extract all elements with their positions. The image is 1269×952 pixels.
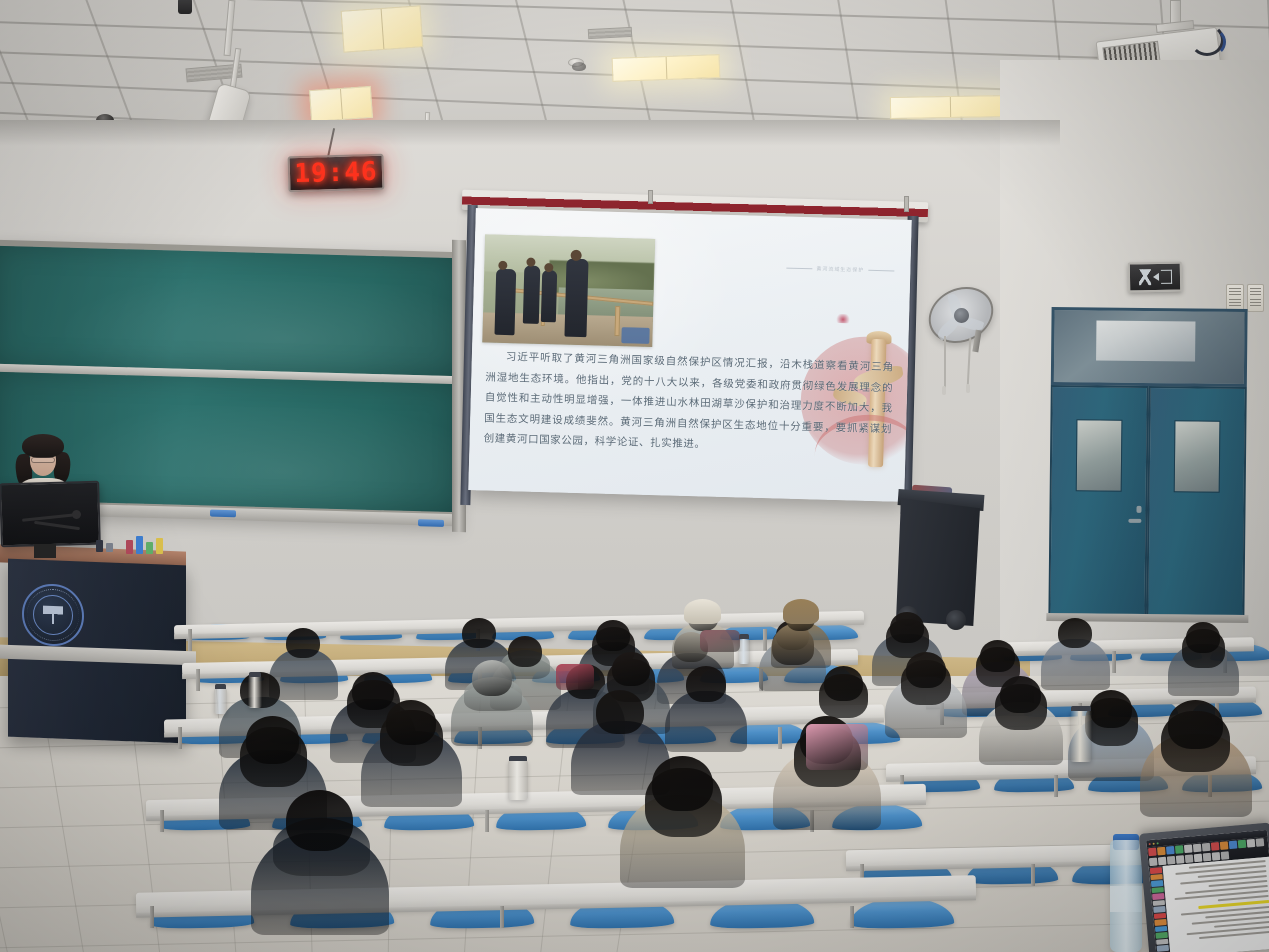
toolbar-icon[interactable] <box>1149 857 1158 866</box>
bottle-cap <box>215 684 226 689</box>
desk-leg <box>485 810 489 832</box>
toolbar-icon[interactable] <box>1185 854 1194 863</box>
microphone-head-icon[interactable] <box>72 510 81 519</box>
desk-item <box>136 536 143 554</box>
seal-emblem <box>43 606 63 625</box>
sidebar-icon[interactable] <box>1152 893 1164 900</box>
blackboard-panel-upper <box>0 246 460 377</box>
sidebar-icon[interactable] <box>1157 945 1169 952</box>
light-switch-left[interactable] <box>1226 284 1244 312</box>
wall-mounted-fan <box>928 288 994 342</box>
student-head <box>1058 618 1092 648</box>
student-hat <box>684 599 721 624</box>
thermos-bottle[interactable] <box>248 676 262 708</box>
projection-screen: 黄河流域生态保护 习近平听取了黄河三角洲国家级自然保护区情况汇报，沿木栈道察看黄… <box>468 208 911 502</box>
ceiling-dome-camera <box>572 62 586 71</box>
sidebar-icon[interactable] <box>1153 899 1165 906</box>
desk-leg <box>1031 864 1035 886</box>
thermos-bottle[interactable] <box>214 688 227 714</box>
exit-door-icon <box>1160 270 1171 284</box>
student-head <box>596 620 630 651</box>
ceiling-light-panel <box>309 86 373 122</box>
sidebar-icon[interactable] <box>1150 867 1162 874</box>
track-light <box>178 0 192 14</box>
classroom-scene: 19:46 <box>0 0 1269 952</box>
photo-person <box>541 270 557 322</box>
desk-item <box>146 542 153 554</box>
document-page[interactable] <box>1163 857 1269 952</box>
sidebar-icon[interactable] <box>1153 906 1165 913</box>
toolbar-icon[interactable] <box>1194 853 1203 862</box>
thermos-bottle[interactable] <box>508 760 528 800</box>
light-switch-right[interactable] <box>1247 284 1265 312</box>
toolbar-icon[interactable] <box>1211 842 1220 851</box>
door-lock[interactable] <box>1136 505 1141 512</box>
desk-leg <box>850 906 854 928</box>
fan-pull-cord-handle[interactable] <box>966 384 970 393</box>
slide-photo <box>482 234 655 347</box>
fan-hub <box>954 308 969 323</box>
monitor-stand <box>34 544 56 558</box>
door-leaf-right[interactable] <box>1146 386 1246 617</box>
desk-supplies <box>96 540 113 552</box>
student-head <box>386 700 436 745</box>
desk-item <box>106 543 113 552</box>
toolbar-icon[interactable] <box>1166 846 1175 855</box>
photo-person <box>564 259 588 338</box>
desk-leg <box>196 669 200 691</box>
deco-line-right <box>868 270 894 272</box>
student-head <box>596 690 644 734</box>
desk-item <box>96 540 103 552</box>
toolbar-icon[interactable] <box>1184 844 1193 853</box>
student-head <box>1168 700 1223 749</box>
toolbar-icon[interactable] <box>1148 848 1157 857</box>
sidebar-icon[interactable] <box>1154 912 1166 919</box>
student-head <box>612 652 650 686</box>
toolbar-icon[interactable] <box>1158 856 1167 865</box>
desk-item <box>126 540 133 554</box>
instructor-glasses <box>31 457 55 463</box>
sidebar-icon[interactable] <box>1155 932 1167 939</box>
desk-leg <box>150 906 154 928</box>
student-head <box>652 756 713 811</box>
backpack <box>700 630 740 652</box>
instructor-hair <box>22 434 64 458</box>
desk-leg <box>763 629 767 651</box>
desk-leg <box>160 810 164 832</box>
fan-pull-cord-handle[interactable] <box>942 386 946 395</box>
toolbar-icon[interactable] <box>1175 845 1184 854</box>
backpack <box>556 664 594 690</box>
door-vision-panel <box>1076 419 1122 492</box>
desk-supplies <box>126 536 163 554</box>
student-head <box>286 628 320 658</box>
student-head <box>1186 622 1220 653</box>
running-person-icon <box>1138 269 1150 285</box>
projector-cable <box>1198 28 1226 56</box>
door-handle[interactable] <box>1128 519 1141 523</box>
student-head <box>1000 676 1041 713</box>
student-head <box>352 672 394 710</box>
bottle-cap <box>739 634 749 639</box>
student-head <box>980 640 1015 672</box>
student-head <box>890 612 924 643</box>
sidebar-icon[interactable] <box>1156 938 1168 945</box>
backpack <box>806 724 868 770</box>
photo-person <box>523 265 541 323</box>
sidebar-icon[interactable] <box>1154 919 1166 926</box>
desk-leg <box>500 906 504 928</box>
bottle-cap <box>249 672 261 677</box>
desk-leg <box>778 727 782 749</box>
bottle-cap <box>1071 706 1091 711</box>
water-bottle-label <box>1110 886 1142 912</box>
sidebar-icon[interactable] <box>1150 874 1162 881</box>
toolbar-icon[interactable] <box>1229 840 1238 849</box>
slide-deco-heading: 黄河流域生态保护 <box>786 265 894 275</box>
bird-icon <box>835 314 851 323</box>
ceiling-light-panel <box>341 5 424 52</box>
classroom-double-door[interactable] <box>1046 307 1249 617</box>
desk-leg <box>1112 651 1116 673</box>
slide-deco-label: 黄河流域生态保护 <box>816 265 864 273</box>
toolbar-icon[interactable] <box>1238 840 1247 849</box>
toolbar-icon[interactable] <box>1193 844 1202 853</box>
presentation-slide: 黄河流域生态保护 习近平听取了黄河三角洲国家级自然保护区情况汇报，沿木栈道察看黄… <box>468 208 911 502</box>
student-laptop[interactable] <box>1139 822 1269 952</box>
toolbar-icon[interactable] <box>1157 847 1166 856</box>
toolbar-icon[interactable] <box>1247 839 1256 848</box>
student-head <box>508 636 542 667</box>
blackboard-eraser <box>418 519 444 527</box>
student-head <box>686 666 726 702</box>
student-head <box>1090 690 1132 728</box>
window-dot <box>1153 842 1155 844</box>
sidebar-icon[interactable] <box>1151 887 1163 894</box>
screen-bracket <box>904 196 909 212</box>
photo-watermark <box>621 327 649 344</box>
toolbar-icon[interactable] <box>1203 852 1212 861</box>
student-hat <box>783 599 819 624</box>
sidebar-icon[interactable] <box>1151 880 1163 887</box>
bottle-cap <box>509 756 527 761</box>
cart-wheel <box>946 610 966 630</box>
toolbar-icon[interactable] <box>1221 851 1230 860</box>
student-head <box>472 660 512 696</box>
toolbar-icon[interactable] <box>1220 841 1229 850</box>
student-head <box>286 790 353 851</box>
wall-light-switch-panel[interactable] <box>1226 284 1264 312</box>
student-head <box>824 666 863 701</box>
thermos-bottle[interactable] <box>1070 710 1092 762</box>
slide-body-text: 习近平听取了黄河三角洲国家级自然保护区情况汇报，沿木栈道察看黄河三角洲湿地生态环… <box>483 346 894 459</box>
deco-line-left <box>786 268 812 270</box>
toolbar-icon[interactable] <box>1202 843 1211 852</box>
photo-railing <box>614 306 620 336</box>
fan-pull-cord[interactable] <box>944 336 946 388</box>
student-head <box>462 618 496 648</box>
emergency-exit-sign <box>1128 262 1183 293</box>
toolbar-icon[interactable] <box>1256 838 1265 847</box>
door-vision-panel <box>1174 420 1220 493</box>
student-head <box>246 716 299 764</box>
sidebar-icon[interactable] <box>1155 925 1167 932</box>
desk-item <box>156 538 163 554</box>
student-head <box>906 652 946 688</box>
toolbar-icon[interactable] <box>1167 855 1176 864</box>
toolbar-icon[interactable] <box>1176 855 1185 864</box>
photo-person <box>494 269 516 336</box>
laptop-screen[interactable] <box>1146 830 1269 952</box>
door-leaf-left[interactable] <box>1048 385 1148 616</box>
wall-ceiling-shadow <box>0 120 1060 146</box>
desk-leg <box>188 629 192 651</box>
ceiling-light-panel <box>890 95 1010 119</box>
window-dot <box>1157 842 1159 844</box>
screen-bracket <box>648 190 653 204</box>
desk-leg <box>178 727 182 749</box>
blackboard-eraser <box>210 510 236 518</box>
podium-monitor[interactable] <box>0 481 101 548</box>
clock-time-display: 19:46 <box>294 157 378 189</box>
exit-arrow-icon <box>1152 273 1158 281</box>
door-transom-window <box>1051 307 1248 387</box>
window-dot <box>1149 842 1151 844</box>
led-wall-clock: 19:46 <box>288 154 385 193</box>
ceiling-light-panel <box>612 54 721 82</box>
toolbar-icon[interactable] <box>1212 852 1221 861</box>
desk-leg <box>1054 775 1058 797</box>
transom-glass-pane <box>1096 321 1195 362</box>
